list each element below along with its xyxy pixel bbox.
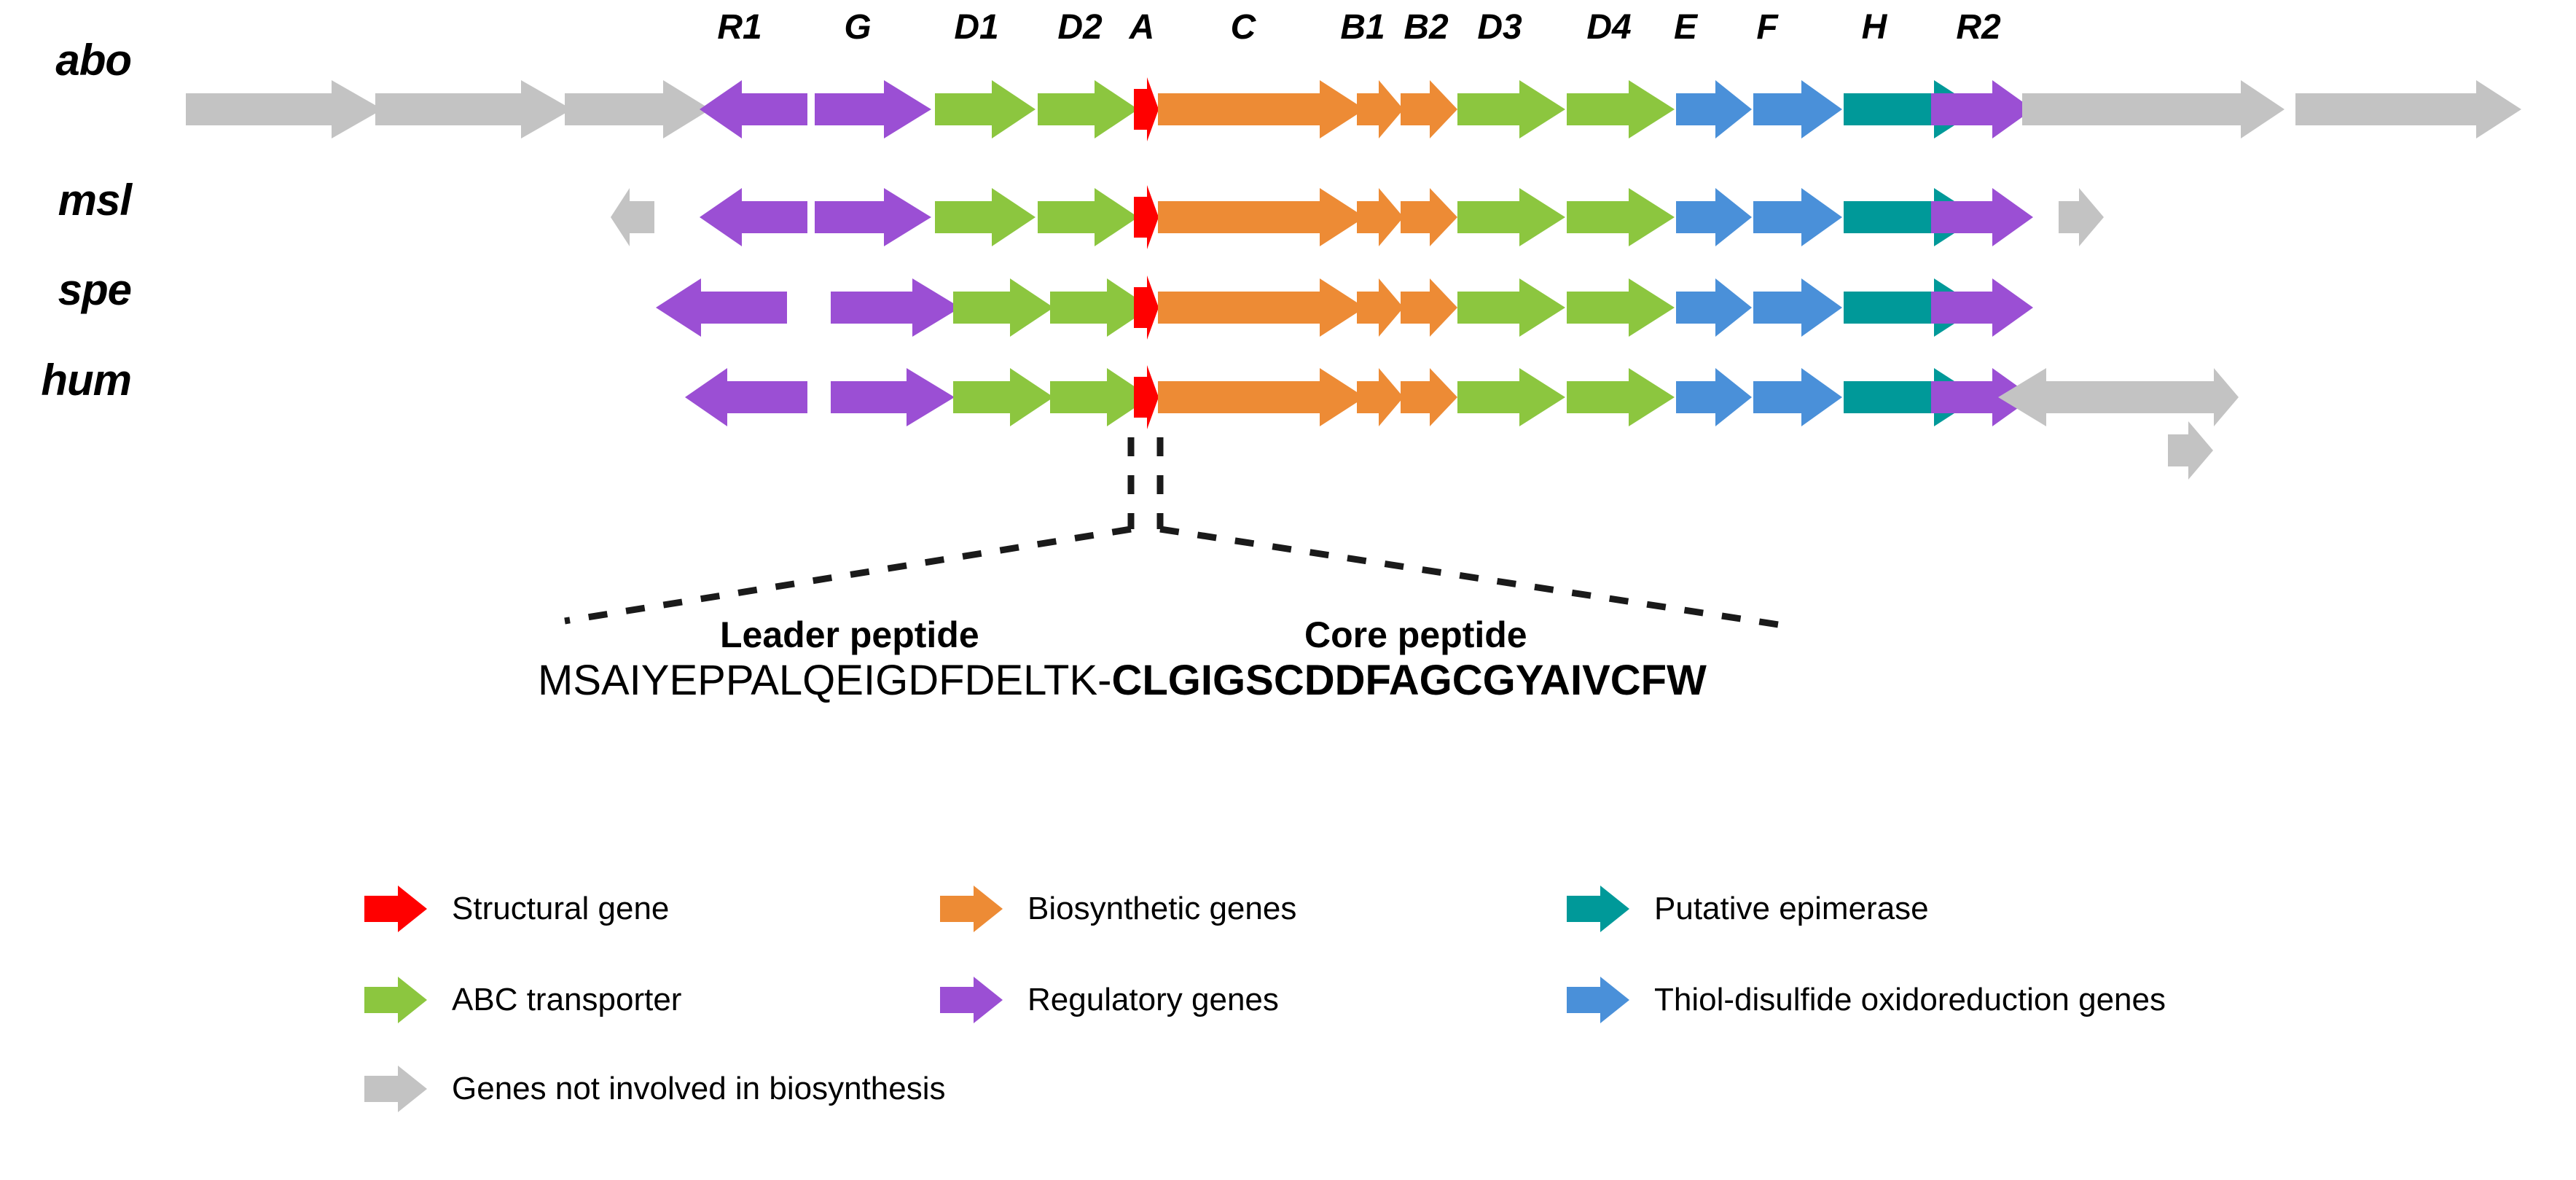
gene-label-A: A: [1109, 7, 1175, 47]
gene-arrow-gray-hum-1: [1998, 368, 2217, 426]
gene-arrow-D4-abo: [1567, 80, 1675, 138]
gene-label-D3: D3: [1456, 7, 1543, 47]
gene-arrow-gray-abo-4: [2022, 80, 2343, 138]
gene-arrow-C-hum: [1158, 368, 1365, 426]
gene-cluster-diagram: abo msl spe hum R1 G D1 D2 A C B1 B2 D3 …: [0, 0, 2576, 1180]
gene-arrow-B2-hum: [1401, 368, 1457, 426]
gene-arrow-F-abo: [1753, 80, 1842, 138]
gene-arrow-A-spe: [1134, 276, 1159, 340]
gene-arrow-F-hum: [1753, 368, 1842, 426]
legend-arrow-orange-icon: [940, 886, 1003, 932]
gene-label-G: G: [814, 7, 901, 47]
gene-arrow-B1-msl: [1357, 188, 1404, 246]
legend-arrow-purple-icon: [940, 977, 1003, 1023]
gene-arrow-B2-msl: [1401, 188, 1457, 246]
gene-arrow-C-abo: [1158, 80, 1365, 138]
gene-arrow-R2-msl: [1931, 188, 2033, 246]
gene-arrow-C-spe: [1158, 278, 1365, 337]
gene-arrow-F-spe: [1753, 278, 1842, 337]
legend-arrow-red-icon: [364, 886, 427, 932]
gene-arrow-R1-hum: [685, 368, 807, 426]
gene-arrow-D2-abo: [1038, 80, 1138, 138]
gene-arrow-D3-hum: [1457, 368, 1565, 426]
gene-arrow-B1-abo: [1357, 80, 1404, 138]
gene-arrow-gray-msl-2: [2059, 188, 2104, 246]
legend-item-regulatory-genes: Regulatory genes: [940, 977, 1279, 1023]
gene-arrow-D1-spe: [953, 278, 1054, 337]
gene-label-F: F: [1727, 7, 1807, 47]
gene-arrow-gray-abo-5: [2295, 80, 2521, 138]
gene-arrow-E-abo: [1676, 80, 1752, 138]
gene-arrow-D4-spe: [1567, 278, 1675, 337]
gene-label-R1: R1: [696, 7, 783, 47]
gene-arrow-C-msl: [1158, 188, 1365, 246]
gene-label-R2: R2: [1935, 7, 2022, 47]
gene-arrow-D3-msl: [1457, 188, 1565, 246]
gene-arrow-E-hum: [1676, 368, 1752, 426]
legend-arrow-teal-icon: [1567, 886, 1629, 932]
gene-arrow-gray-hum-2: [2193, 368, 2239, 426]
legend-item-not-involved: Genes not involved in biosynthesis: [364, 1066, 946, 1112]
gene-arrow-E-spe: [1676, 278, 1752, 337]
gene-label-B2: B2: [1386, 7, 1466, 47]
gene-arrow-gray-msl-1: [611, 188, 654, 246]
gene-arrow-G-spe: [831, 278, 960, 337]
legend-label-thiol-disulfide: Thiol-disulfide oxidoreduction genes: [1654, 982, 2166, 1018]
gene-label-D4: D4: [1565, 7, 1653, 47]
gene-arrow-D3-spe: [1457, 278, 1565, 337]
gene-arrow-E-msl: [1676, 188, 1752, 246]
gene-arrow-D2-msl: [1038, 188, 1138, 246]
gene-arrow-R1-spe: [656, 278, 787, 337]
gene-arrow-D4-msl: [1567, 188, 1675, 246]
core-peptide-title: Core peptide: [1304, 614, 1527, 656]
gene-arrow-F-msl: [1753, 188, 1842, 246]
core-sequence-text: CLGIGSCDDFAGCGYAIVCFW: [1111, 657, 1706, 704]
legend-label-structural-gene: Structural gene: [452, 891, 669, 927]
legend-arrow-green-icon: [364, 977, 427, 1023]
peptide-sequence: MSAIYEPPALQEIGDFDELTK-CLGIGSCDDFAGCGYAIV…: [538, 656, 1707, 705]
gene-label-E: E: [1645, 7, 1726, 47]
gene-arrow-D1-msl: [935, 188, 1036, 246]
row-label-abo: abo: [15, 35, 131, 85]
gene-arrow-B1-hum: [1357, 368, 1404, 426]
gene-arrow-G-hum: [831, 368, 955, 426]
gene-arrow-B2-abo: [1401, 80, 1457, 138]
gene-arrow-A-hum: [1134, 365, 1159, 429]
legend-label-putative-epimerase: Putative epimerase: [1654, 891, 1929, 927]
gene-label-H: H: [1834, 7, 1914, 47]
gene-arrow-R2-spe: [1931, 278, 2033, 337]
legend-label-biosynthetic-genes: Biosynthetic genes: [1027, 891, 1296, 927]
gene-arrow-B2-spe: [1401, 278, 1457, 337]
gene-arrow-R1-msl: [700, 188, 807, 246]
leader-peptide-title: Leader peptide: [720, 614, 979, 656]
gene-arrow-gray-abo-2: [375, 80, 572, 138]
legend-item-abc-transporter: ABC transporter: [364, 977, 681, 1023]
gene-arrow-R1-abo: [700, 80, 807, 138]
legend-item-structural-gene: Structural gene: [364, 886, 669, 932]
legend-label-not-involved: Genes not involved in biosynthesis: [452, 1071, 946, 1107]
gene-label-C: C: [1199, 7, 1287, 47]
gene-arrow-A-msl: [1134, 185, 1159, 249]
gene-arrow-B1-spe: [1357, 278, 1404, 337]
gene-arrow-A-abo: [1134, 77, 1159, 141]
legend-item-putative-epimerase: Putative epimerase: [1567, 886, 1929, 932]
legend-label-regulatory-genes: Regulatory genes: [1027, 982, 1279, 1018]
gene-arrow-G-msl: [815, 188, 931, 246]
legend-arrow-blue-icon: [1567, 977, 1629, 1023]
legend-label-abc-transporter: ABC transporter: [452, 982, 681, 1018]
row-label-hum: hum: [15, 355, 131, 405]
legend-item-biosynthetic-genes: Biosynthetic genes: [940, 886, 1296, 932]
legend-item-thiol-disulfide: Thiol-disulfide oxidoreduction genes: [1567, 977, 2166, 1023]
gene-arrow-R2-abo: [1931, 80, 2033, 138]
legend-arrow-gray-icon: [364, 1066, 427, 1112]
gene-arrow-D1-hum: [953, 368, 1054, 426]
row-label-spe: spe: [15, 265, 131, 315]
gene-label-D1: D1: [933, 7, 1020, 47]
gene-arrow-gray-abo-3: [565, 80, 710, 138]
gene-arrow-gray-hum-3: [2168, 421, 2213, 480]
gene-arrow-D4-hum: [1567, 368, 1675, 426]
row-label-msl: msl: [15, 175, 131, 225]
leader-sequence-text: MSAIYEPPALQEIGDFDELTK-: [538, 657, 1111, 704]
gene-arrow-G-abo: [815, 80, 931, 138]
gene-arrow-D3-abo: [1457, 80, 1565, 138]
gene-arrow-gray-abo-1: [186, 80, 383, 138]
gene-arrow-D1-abo: [935, 80, 1036, 138]
